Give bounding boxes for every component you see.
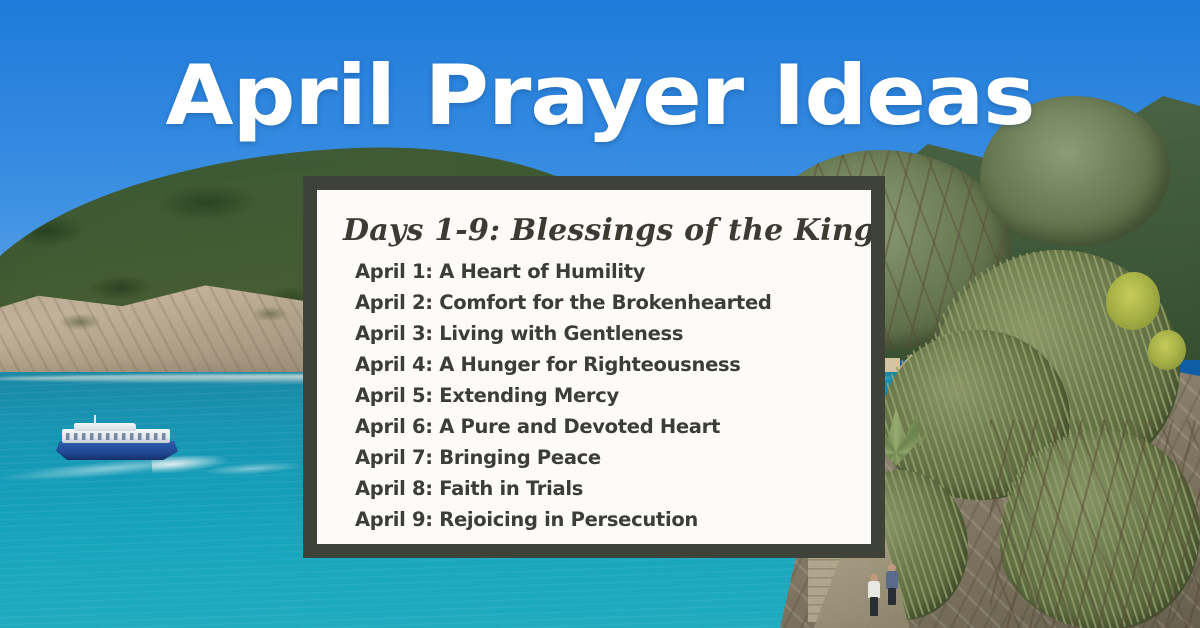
list-item: April 7: Bringing Peace bbox=[355, 442, 845, 473]
hiker-torso bbox=[868, 581, 880, 598]
list-item: April 1: A Heart of Humility bbox=[355, 256, 845, 287]
list-item: April 3: Living with Gentleness bbox=[355, 318, 845, 349]
hiker bbox=[866, 574, 882, 618]
list-item: April 2: Comfort for the Brokenhearted bbox=[355, 287, 845, 318]
prayer-ideas-list: April 1: A Heart of Humility April 2: Co… bbox=[343, 256, 845, 535]
list-item: April 6: A Pure and Devoted Heart bbox=[355, 411, 845, 442]
ferry-mast bbox=[94, 415, 96, 424]
dry-branches bbox=[990, 420, 1200, 628]
list-item: April 8: Faith in Trials bbox=[355, 473, 845, 504]
hiker-legs bbox=[888, 588, 896, 605]
list-item: April 9: Rejoicing in Persecution bbox=[355, 504, 845, 535]
hiker bbox=[884, 564, 900, 606]
ferry-hull bbox=[56, 441, 178, 460]
prayer-ideas-card: Days 1-9: Blessings of the Kingdom April… bbox=[303, 176, 885, 558]
hiker-legs bbox=[870, 597, 878, 616]
hiker-torso bbox=[886, 571, 898, 589]
ferry-cabin bbox=[74, 423, 136, 431]
yellow-flowering-bush bbox=[1106, 272, 1160, 330]
yellow-flowering-bush bbox=[1148, 330, 1186, 370]
poster: April Prayer Ideas Days 1-9: Blessings o… bbox=[0, 0, 1200, 628]
list-item: April 4: A Hunger for Righteousness bbox=[355, 349, 845, 380]
card-inner: Days 1-9: Blessings of the Kingdom April… bbox=[317, 190, 871, 544]
card-heading: Days 1-9: Blessings of the Kingdom bbox=[343, 212, 845, 250]
page-title: April Prayer Ideas bbox=[0, 52, 1200, 140]
ferry-windows bbox=[66, 433, 166, 440]
list-item: April 5: Extending Mercy bbox=[355, 380, 845, 411]
passenger-ferry bbox=[56, 420, 182, 468]
